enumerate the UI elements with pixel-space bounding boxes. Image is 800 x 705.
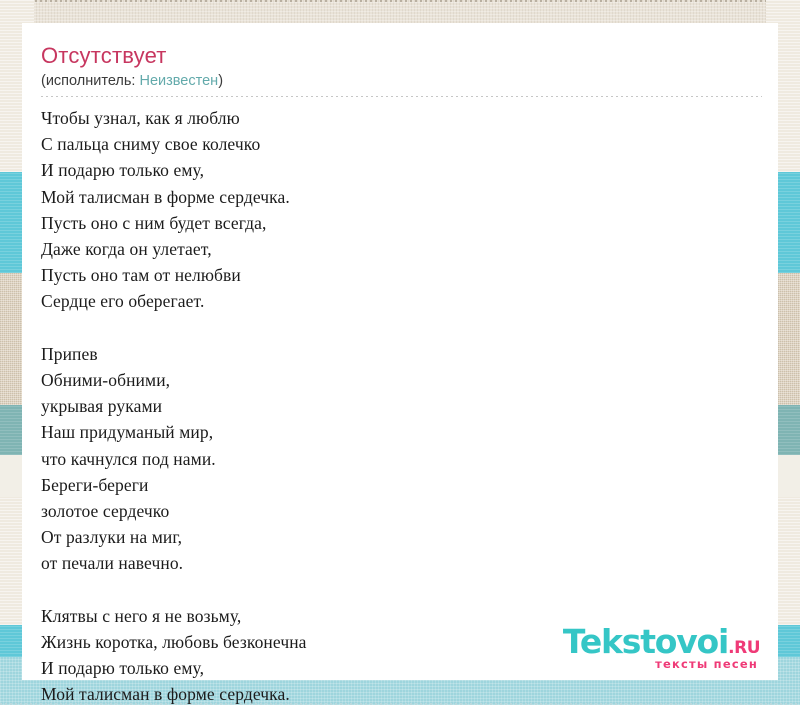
logo-tld: .RU — [728, 640, 760, 657]
artist-line: (исполнитель: Неизвестен) — [41, 72, 762, 96]
artist-prefix-label: (исполнитель: — [41, 73, 139, 89]
artist-suffix-label: ) — [218, 73, 223, 89]
logo-wordmark: Tekstovoi — [563, 625, 728, 658]
lyrics-text: Чтобы узнал, как я люблю С пальца сниму … — [41, 105, 762, 705]
artist-link[interactable]: Неизвестен — [139, 73, 218, 89]
song-title: Отсутствует — [41, 43, 762, 69]
title-separator — [41, 96, 762, 97]
site-logo[interactable]: Tekstovoi.RU тексты песен — [563, 625, 760, 671]
top-dotted-rule — [0, 0, 800, 2]
logo-line: Tekstovoi.RU — [563, 625, 760, 658]
lyrics-card: Отсутствует (исполнитель: Неизвестен) Чт… — [22, 23, 778, 680]
